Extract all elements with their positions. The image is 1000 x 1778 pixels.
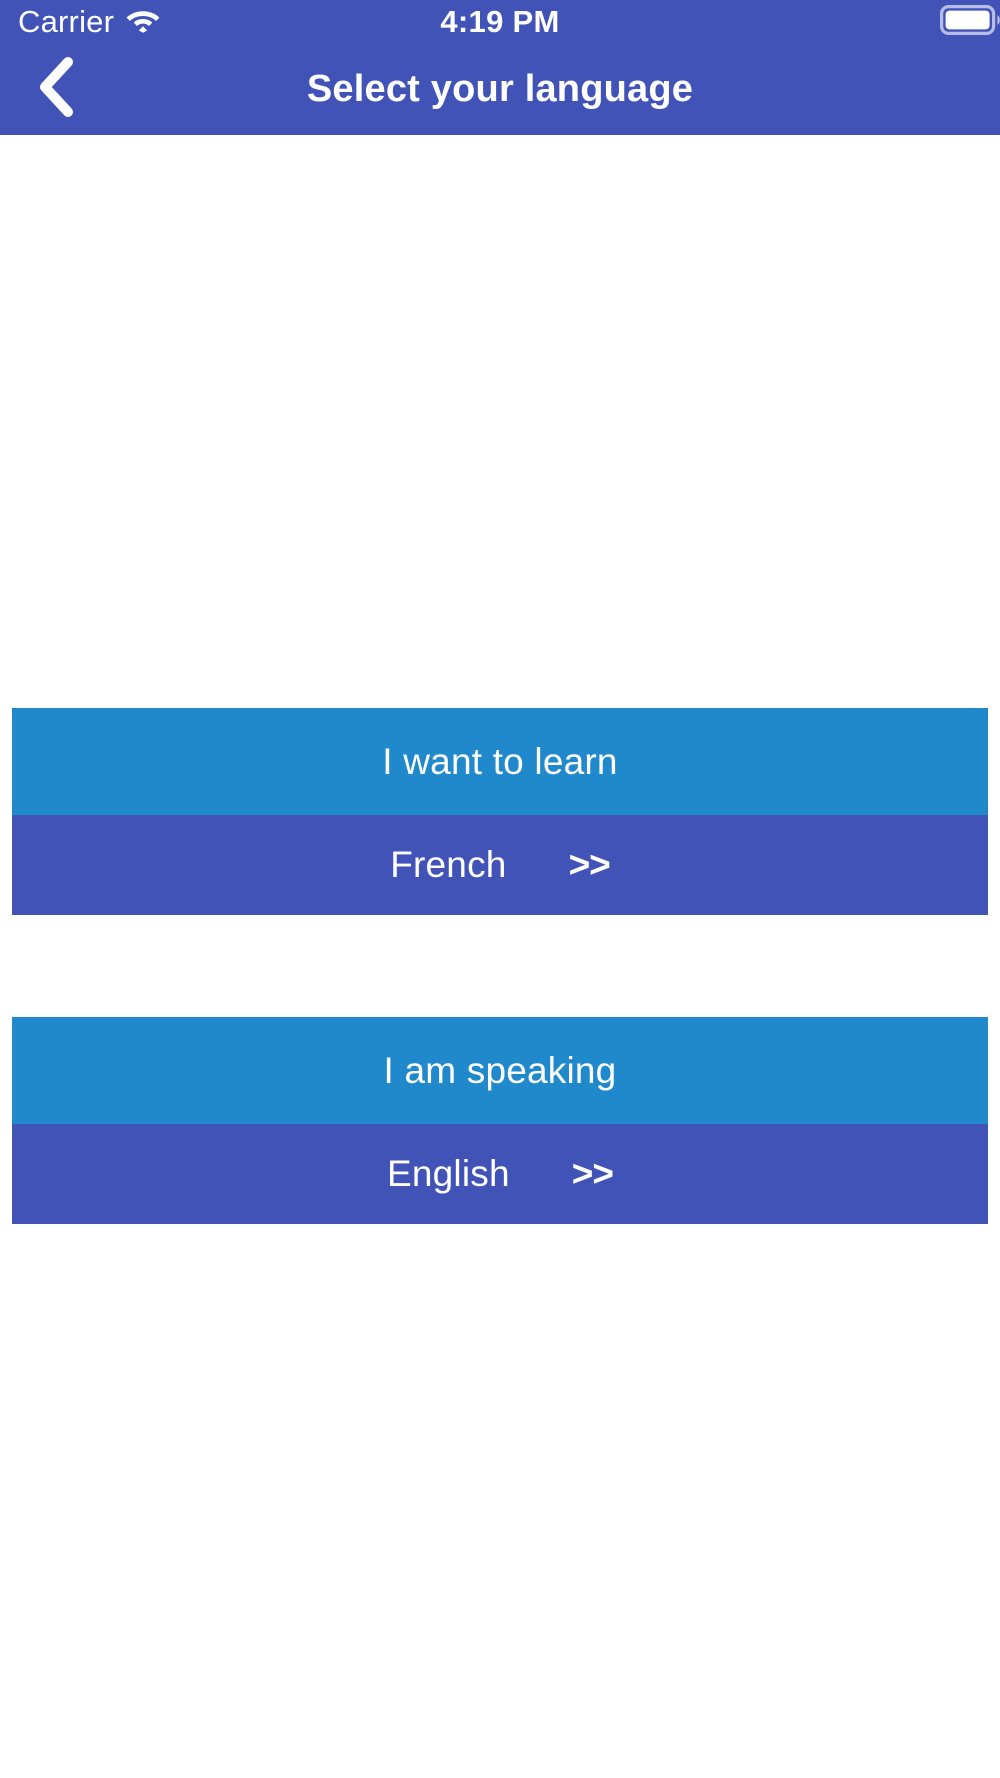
content-area: I want to learn French >> I am speaking … [0, 135, 1000, 1778]
selected-language-value: English [387, 1153, 510, 1195]
app-screen: Carrier 4:19 PM [0, 0, 1000, 1778]
language-selector-speak[interactable]: English >> [12, 1124, 988, 1224]
card-row-content: French >> [390, 844, 610, 886]
card-header-label: I want to learn [382, 741, 617, 783]
card-header-label: I am speaking [384, 1050, 617, 1092]
status-bar: Carrier 4:19 PM [0, 0, 1000, 44]
navigation-bar: Select your language [0, 44, 1000, 135]
language-selector-learn[interactable]: French >> [12, 815, 988, 915]
card-header-learn: I want to learn [12, 708, 988, 815]
language-card-learn: I want to learn French >> [12, 708, 988, 915]
double-chevron-right-icon: >> [572, 1153, 613, 1195]
selected-language-value: French [390, 844, 506, 886]
card-header-speak: I am speaking [12, 1017, 988, 1124]
page-title: Select your language [0, 44, 1000, 135]
status-bar-time: 4:19 PM [0, 4, 1000, 40]
double-chevron-right-icon: >> [569, 844, 610, 886]
card-row-content: English >> [387, 1153, 613, 1195]
language-card-speak: I am speaking English >> [12, 1017, 988, 1224]
battery-full-icon [940, 5, 1000, 40]
status-bar-right [940, 5, 1000, 40]
